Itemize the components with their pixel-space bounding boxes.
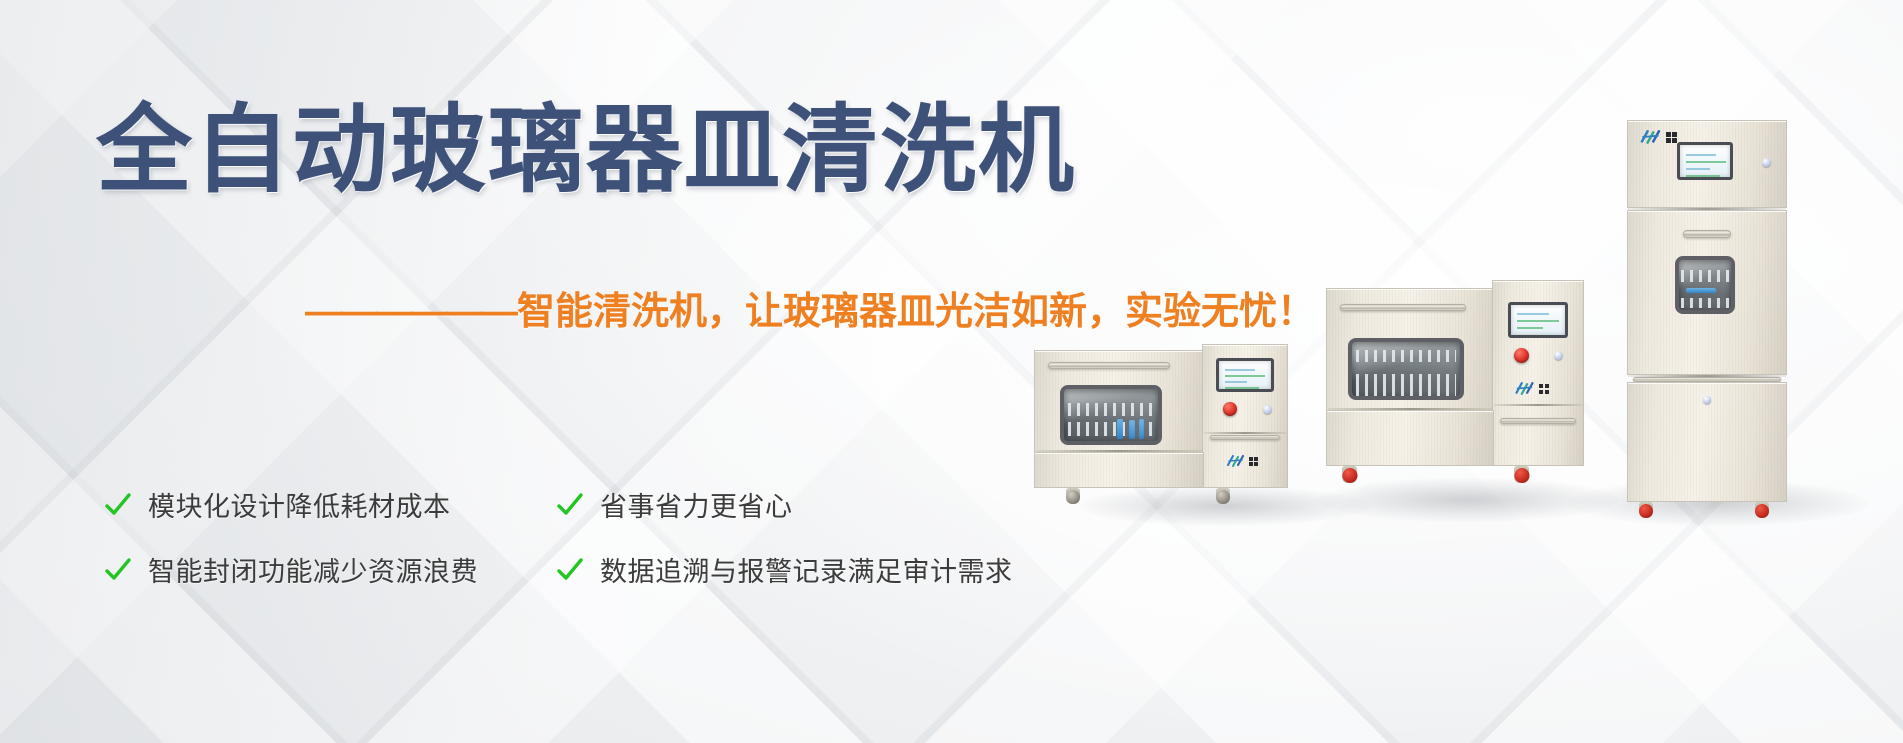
washer-lower-drawer bbox=[1034, 452, 1204, 488]
subtitle-dash: —————— bbox=[305, 291, 515, 333]
product-image-group bbox=[1090, 0, 1903, 743]
feature-label: 模块化设计降低耗材成本 bbox=[148, 485, 451, 524]
blue-spray-arm bbox=[1686, 288, 1716, 293]
check-icon bbox=[556, 556, 584, 584]
caster-wheel-tyre bbox=[1755, 504, 1769, 518]
hmi-screen-line bbox=[1225, 381, 1247, 383]
hmi-touch-screen[interactable] bbox=[1216, 358, 1274, 392]
caster-wheel bbox=[1514, 466, 1529, 483]
chamber-view-window bbox=[1348, 338, 1464, 400]
hmi-screen-line bbox=[1686, 161, 1726, 163]
glassware-rack-lower bbox=[1681, 298, 1729, 308]
caster-wheel bbox=[1342, 466, 1357, 483]
glassware-rack-lower bbox=[1356, 374, 1455, 396]
caster-wheel bbox=[1755, 502, 1769, 518]
caster-wheel bbox=[1216, 488, 1230, 504]
blue-pipette-holder bbox=[1129, 420, 1135, 439]
brand-h-mark-icon bbox=[1514, 381, 1536, 397]
caster-wheel bbox=[1066, 488, 1080, 504]
caster-wheel-tyre bbox=[1066, 490, 1080, 504]
hmi-screen-line bbox=[1686, 154, 1716, 156]
hmi-touch-screen[interactable] bbox=[1677, 142, 1733, 180]
emergency-stop-button[interactable] bbox=[1514, 348, 1529, 363]
chamber-view-window bbox=[1675, 256, 1735, 314]
check-icon bbox=[556, 491, 584, 519]
brand-h-mark-icon bbox=[1639, 129, 1663, 146]
feature-label: 数据追溯与报警记录满足审计需求 bbox=[600, 550, 1013, 589]
blue-pipette-holder bbox=[1139, 419, 1144, 439]
hmi-screen-line bbox=[1517, 313, 1549, 315]
caster-wheel-tyre bbox=[1514, 468, 1529, 483]
brand-grid-icon bbox=[1539, 384, 1549, 394]
brand-grid-icon bbox=[1249, 457, 1258, 466]
hmi-screen-line bbox=[1686, 175, 1720, 177]
banner-title: 全自动玻璃器皿清洗机 bbox=[96, 101, 1076, 201]
feature-item: 模块化设计降低耗材成本 bbox=[104, 485, 556, 524]
glassware-rack-upper bbox=[1356, 350, 1455, 362]
hmi-screen-line bbox=[1225, 375, 1265, 377]
base-lock-indicator bbox=[1703, 396, 1711, 404]
glassware-rack-upper bbox=[1068, 403, 1154, 416]
check-icon bbox=[104, 491, 132, 519]
power-indicator-light[interactable] bbox=[1762, 158, 1771, 167]
hmi-screen-line bbox=[1225, 387, 1259, 389]
brand-grid-icon bbox=[1666, 132, 1677, 143]
caster-wheel bbox=[1639, 502, 1653, 518]
feature-item: 智能封闭功能减少资源浪费 bbox=[104, 550, 556, 589]
brand-h-mark-icon bbox=[1226, 454, 1246, 469]
brand-logo bbox=[1514, 381, 1549, 397]
product-banner: 全自动玻璃器皿清洗机 ——————智能清洗机，让玻璃器皿光洁如新，实验无忧！ 模… bbox=[0, 0, 1903, 743]
hmi-screen-line bbox=[1686, 168, 1710, 170]
caster-wheel-tyre bbox=[1216, 490, 1230, 504]
feature-label: 省事省力更省心 bbox=[600, 485, 793, 524]
feature-list: 模块化设计降低耗材成本 省事省力更省心 智能封闭功能减少资源浪费 数据追溯与报警… bbox=[104, 472, 1084, 602]
control-column-seam bbox=[1204, 432, 1286, 434]
brand-logo bbox=[1226, 454, 1258, 469]
feature-item: 数据追溯与报警记录满足审计需求 bbox=[556, 550, 1084, 589]
product-tall-column-glassware-washer bbox=[1565, 120, 1865, 515]
control-drawer-handle[interactable] bbox=[1210, 435, 1280, 440]
power-indicator-light[interactable] bbox=[1554, 351, 1563, 360]
emergency-stop-button[interactable] bbox=[1223, 402, 1237, 416]
power-indicator-light[interactable] bbox=[1263, 405, 1272, 414]
hmi-screen-line bbox=[1517, 327, 1543, 329]
feature-label: 智能封闭功能减少资源浪费 bbox=[148, 550, 478, 589]
glassware-rack-upper bbox=[1681, 270, 1729, 282]
brand-logo bbox=[1639, 129, 1677, 146]
blue-pipette-holder bbox=[1117, 419, 1123, 439]
caster-wheel-tyre bbox=[1342, 468, 1357, 483]
hmi-screen-line bbox=[1517, 320, 1559, 322]
product-undercounter-glassware-washer bbox=[1020, 340, 1360, 510]
check-icon bbox=[104, 556, 132, 584]
hmi-screen-line bbox=[1225, 369, 1255, 371]
chamber-view-window bbox=[1060, 385, 1162, 445]
chamber-door-handle[interactable] bbox=[1683, 230, 1731, 238]
caster-wheel-tyre bbox=[1639, 504, 1653, 518]
washer-lower-drawer bbox=[1326, 410, 1494, 466]
chamber-door-handle[interactable] bbox=[1048, 362, 1170, 369]
chamber-door-handle[interactable] bbox=[1340, 304, 1466, 311]
hmi-touch-screen[interactable] bbox=[1508, 302, 1568, 338]
feature-item: 省事省力更省心 bbox=[556, 485, 1084, 524]
